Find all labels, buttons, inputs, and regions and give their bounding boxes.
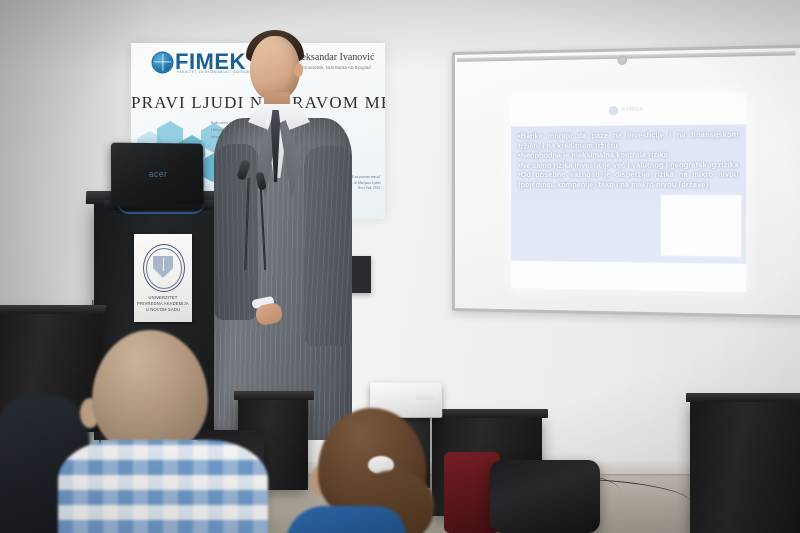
podium-plate-text: UNIVERZITET PRIVREDNA AKADEMIJA U NOVOM … <box>134 295 192 313</box>
presenter-arm-left <box>214 144 258 320</box>
audience-man-head <box>92 330 208 456</box>
slide-footer <box>511 261 746 292</box>
podium-emblem-plate: UNIVERZITET PRIVREDNA AKADEMIJA U NOVOM … <box>134 234 192 322</box>
presenter-arm-right <box>304 146 352 346</box>
desk-right-top <box>686 393 800 402</box>
audience-woman-ponytail <box>300 408 460 533</box>
chair-right[interactable] <box>490 460 600 533</box>
audience-woman-top <box>286 506 406 533</box>
laptop[interactable]: acer <box>111 143 204 206</box>
university-crest-icon <box>143 244 183 290</box>
presenter-head <box>250 36 300 100</box>
projected-slide: FIMEK •Banke moraju da paze na investici… <box>511 93 746 292</box>
desk-left-top <box>0 305 106 314</box>
slide-bullet: •Banke moraju da paze na investicije i n… <box>518 131 738 152</box>
globe-icon <box>153 53 172 72</box>
slide-bullet: •Od posebne važnosti je disperzija rizik… <box>518 171 738 191</box>
slide-image-placeholder <box>660 194 742 257</box>
whiteboard: FIMEK •Banke moraju da paze na investici… <box>452 45 800 319</box>
whiteboard-knob <box>617 56 626 65</box>
acer-logo: acer <box>149 169 168 179</box>
desk-right <box>690 400 800 533</box>
slide-bullet: •Ne samo rizika investicije već i valutn… <box>518 161 738 171</box>
audience-man-checkered-shirt <box>62 330 252 533</box>
lecture-room-photo: FIMEK FAKULTET ZA EKONOMIJU I INZENJERSK… <box>0 0 800 533</box>
slide-logo-icon <box>609 106 618 115</box>
whiteboard-rail <box>457 51 796 62</box>
slide-header: FIMEK <box>511 93 746 126</box>
laptop-cable <box>118 203 204 214</box>
slide-header-title: FIMEK <box>622 107 644 113</box>
presenter-ear <box>294 63 303 77</box>
slide-bullet: •Neophodna je maksimalna kontrola rizika <box>518 151 738 162</box>
plate-line: U NOVOM SADU <box>134 307 192 313</box>
slide-body: •Banke moraju da paze na investicije i n… <box>511 124 746 263</box>
projector-vent <box>416 391 433 400</box>
audience-man-shirt <box>58 440 268 533</box>
